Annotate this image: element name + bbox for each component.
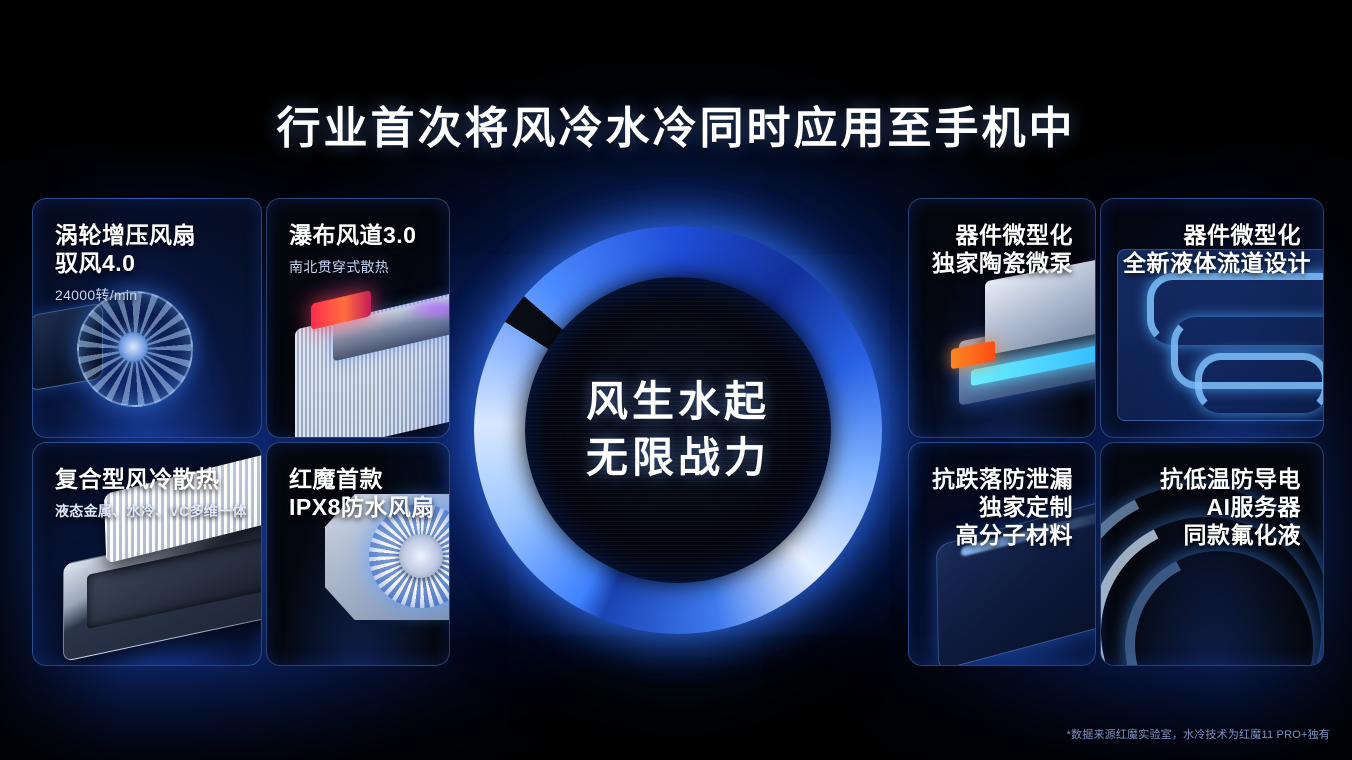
card-title-line1: 器件微型化: [931, 221, 1073, 249]
card-title-line2: 全新液体流道设计: [1123, 249, 1301, 277]
card-liquid-channel[interactable]: 器件微型化 全新液体流道设计: [1100, 198, 1324, 438]
card-anti-leak[interactable]: 抗跌落防泄漏 独家定制 高分子材料: [908, 442, 1096, 666]
card-subtitle: 24000转/min: [55, 285, 239, 305]
card-content: 器件微型化 独家陶瓷微泵: [909, 199, 1095, 277]
center-slogan-line2: 无限战力: [586, 430, 770, 486]
center-slogan-line1: 风生水起: [586, 374, 770, 430]
card-content: 器件微型化 全新液体流道设计: [1101, 199, 1323, 277]
card-content: 抗跌落防泄漏 独家定制 高分子材料: [909, 443, 1095, 549]
card-title-line2: 驭风4.0: [55, 249, 239, 277]
card-title-line1: 涡轮增压风扇: [55, 221, 239, 249]
card-title-line3: 高分子材料: [931, 521, 1073, 549]
card-ceramic-pump[interactable]: 器件微型化 独家陶瓷微泵: [908, 198, 1096, 438]
card-fluorinated-liquid[interactable]: 抗低温防导电 AI服务器 同款氟化液: [1100, 442, 1324, 666]
card-title-line2: IPX8防水风扇: [289, 493, 427, 521]
card-content: 红魔首款 IPX8防水风扇: [267, 443, 449, 521]
card-content: 抗低温防导电 AI服务器 同款氟化液: [1101, 443, 1323, 549]
card-content: 涡轮增压风扇 驭风4.0 24000转/min: [33, 199, 261, 305]
slide-title: 行业首次将风冷水冷同时应用至手机中: [0, 92, 1352, 156]
card-title-line1: 抗跌落防泄漏: [931, 465, 1073, 493]
card-content: 复合型风冷散热 液态金属、水冷、VC多维一体: [33, 443, 261, 521]
card-title-line1: 红魔首款: [289, 465, 427, 493]
card-title-line2: 独家陶瓷微泵: [931, 249, 1073, 277]
card-turbo-fan[interactable]: 涡轮增压风扇 驭风4.0 24000转/min: [32, 198, 262, 438]
card-title-line2: 独家定制: [931, 493, 1073, 521]
footnote-disclaimer: *数据来源红魔实验室，水冷技术为红魔11 PRO+独有: [1067, 726, 1330, 742]
slide-stage: 行业首次将风冷水冷同时应用至手机中 涡轮增压风扇 驭风4.0 24000转/mi…: [0, 0, 1352, 760]
card-subtitle: 液态金属、水冷、VC多维一体: [55, 501, 239, 521]
card-composite-cooling[interactable]: 复合型风冷散热 液态金属、水冷、VC多维一体: [32, 442, 262, 666]
card-title-line1: 复合型风冷散热: [55, 465, 239, 493]
card-content: 瀑布风道3.0 南北贯穿式散热: [267, 199, 449, 277]
card-title-line2: AI服务器: [1123, 493, 1301, 521]
card-title-line1: 瀑布风道3.0: [289, 221, 427, 249]
card-ipx8-fan[interactable]: 红魔首款 IPX8防水风扇: [266, 442, 450, 666]
card-title-line3: 同款氟化液: [1123, 521, 1301, 549]
ring-inner-disc: 风生水起 无限战力: [525, 277, 831, 583]
card-title-line1: 抗低温防导电: [1123, 465, 1301, 493]
card-subtitle: 南北贯穿式散热: [289, 257, 427, 277]
card-waterfall-duct[interactable]: 瀑布风道3.0 南北贯穿式散热: [266, 198, 450, 438]
card-title-line1: 器件微型化: [1123, 221, 1301, 249]
center-ring: 风生水起 无限战力: [452, 198, 904, 662]
